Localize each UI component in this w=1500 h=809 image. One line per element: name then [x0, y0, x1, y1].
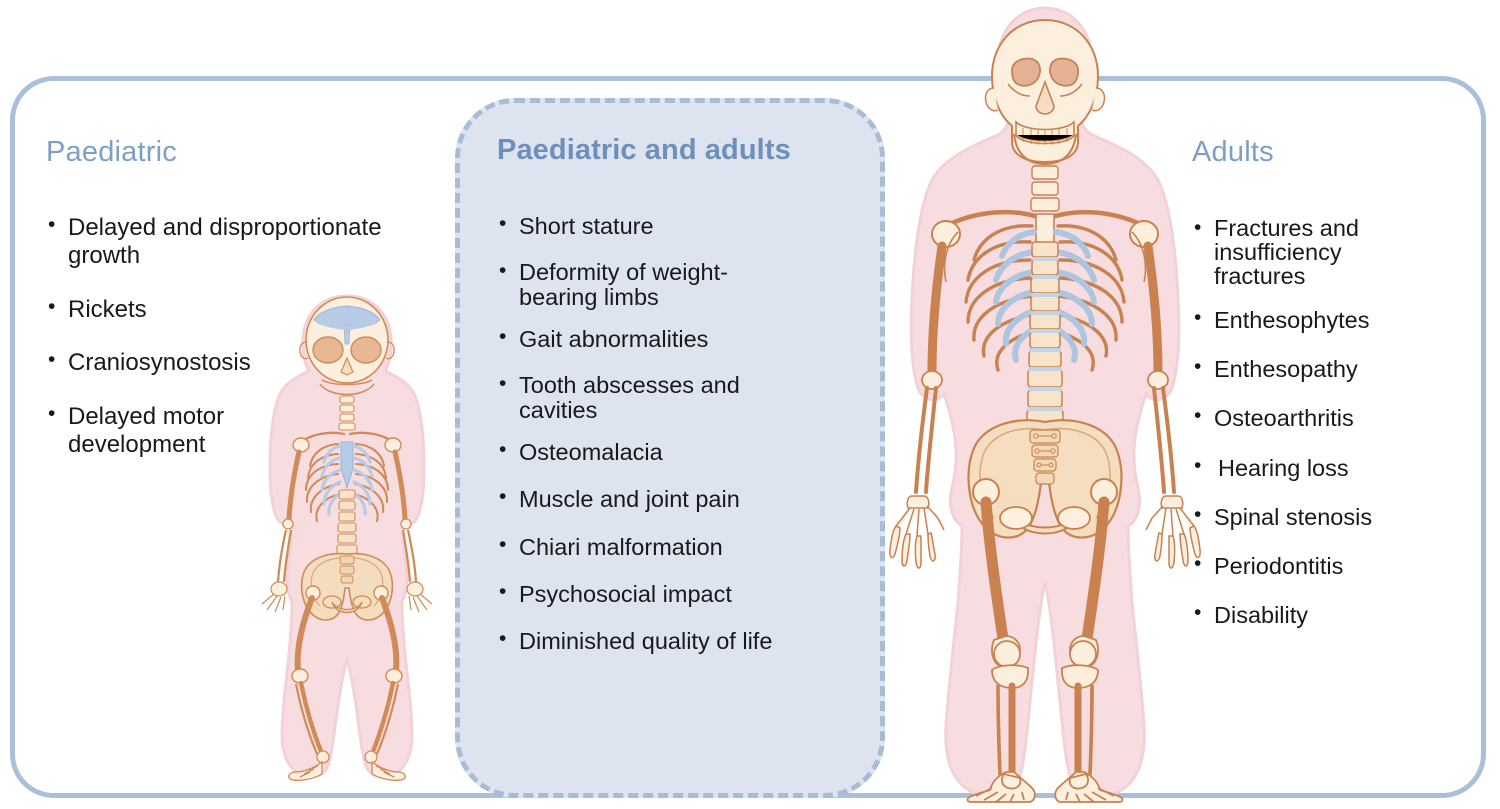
list-item: Fractures and insufficiency fractures	[1192, 217, 1404, 289]
list-item: Delayed and disproportionate growth	[46, 214, 416, 270]
list-item: Spinal stenosis	[1192, 504, 1492, 531]
list-item: Craniosynostosis	[46, 349, 416, 377]
list-item: Hearing loss	[1192, 455, 1492, 482]
list-item: Enthesopathy	[1192, 356, 1492, 383]
list-item: Delayed motor development	[46, 403, 258, 459]
heading-paediatric: Paediatric	[46, 136, 416, 169]
heading-paediatric-and-adults: Paediatric and adults	[497, 134, 873, 167]
list-item: Chiari malformation	[497, 534, 873, 561]
list-item: Periodontitis	[1192, 553, 1492, 580]
heading-adults: Adults	[1192, 136, 1492, 169]
list-paediatric: Delayed and disproportionate growth Rick…	[46, 214, 416, 459]
infographic-canvas: Paediatric Delayed and disproportionate …	[0, 0, 1500, 809]
list-item: Diminished quality of life	[497, 628, 873, 655]
list-item: Enthesophytes	[1192, 307, 1492, 334]
column-adults: Adults Fractures and insufficiency fract…	[1192, 136, 1492, 652]
list-item: Rickets	[46, 296, 416, 324]
list-adults: Fractures and insufficiency fractures En…	[1192, 217, 1492, 630]
list-item: Muscle and joint pain	[497, 486, 873, 513]
list-item: Gait abnormalities	[497, 326, 873, 353]
column-paediatric-and-adults: Paediatric and adults Short stature Defo…	[497, 134, 873, 675]
list-item: Disability	[1192, 602, 1492, 629]
list-item: Osteomalacia	[497, 439, 873, 466]
column-paediatric: Paediatric Delayed and disproportionate …	[46, 136, 416, 485]
list-item: Psychosocial impact	[497, 581, 873, 608]
adult-skeleton-illustration	[880, 2, 1210, 802]
list-paediatric-and-adults: Short stature Deformity of weight-bearin…	[497, 213, 873, 655]
list-item: Tooth abscesses and cavities	[497, 373, 744, 423]
list-item: Osteoarthritis	[1192, 405, 1492, 432]
list-item: Short stature	[497, 213, 873, 240]
list-item: Deformity of weight-bearing limbs	[497, 260, 804, 310]
